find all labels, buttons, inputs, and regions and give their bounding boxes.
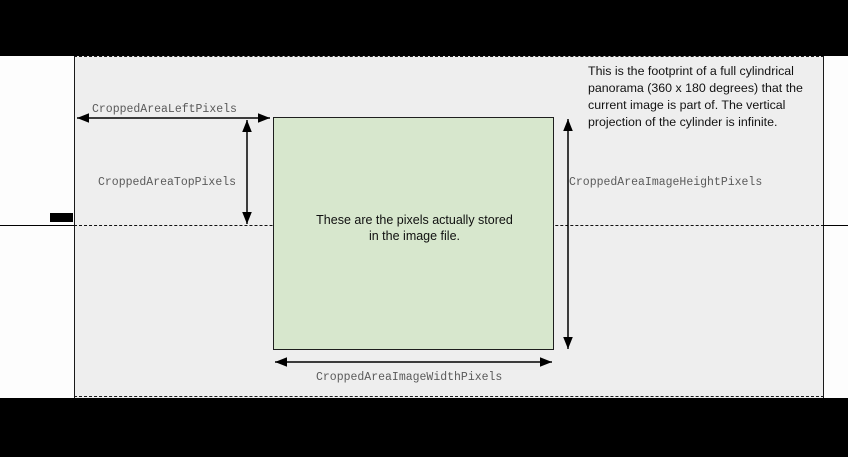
- stored-image-rectangle: These are the pixels actually stored in …: [273, 117, 554, 350]
- equator-line-right-solid: [823, 225, 848, 226]
- label-cropped-area-top-pixels: CroppedAreaTopPixels: [98, 176, 236, 189]
- label-cropped-area-left-pixels: CroppedAreaLeftPixels: [92, 103, 237, 116]
- diagram-canvas: These are the pixels actually stored in …: [0, 0, 848, 457]
- stored-image-caption-line-2: in the image file.: [274, 228, 555, 244]
- panorama-top-boundary-dashed: [74, 56, 824, 57]
- equator-line-left-solid: [0, 225, 75, 226]
- panorama-left-boundary-solid: [74, 56, 75, 398]
- label-cropped-area-image-width-pixels: CroppedAreaImageWidthPixels: [316, 371, 502, 384]
- panorama-footprint-note: This is the footprint of a full cylindri…: [588, 63, 826, 131]
- panorama-bottom-boundary-dashed: [74, 396, 824, 397]
- horizon-marker-block: [50, 213, 73, 222]
- stored-image-caption-line-1: These are the pixels actually stored: [274, 212, 555, 228]
- stored-image-caption: These are the pixels actually stored in …: [274, 212, 555, 244]
- label-cropped-area-image-height-pixels: CroppedAreaImageHeightPixels: [569, 176, 762, 189]
